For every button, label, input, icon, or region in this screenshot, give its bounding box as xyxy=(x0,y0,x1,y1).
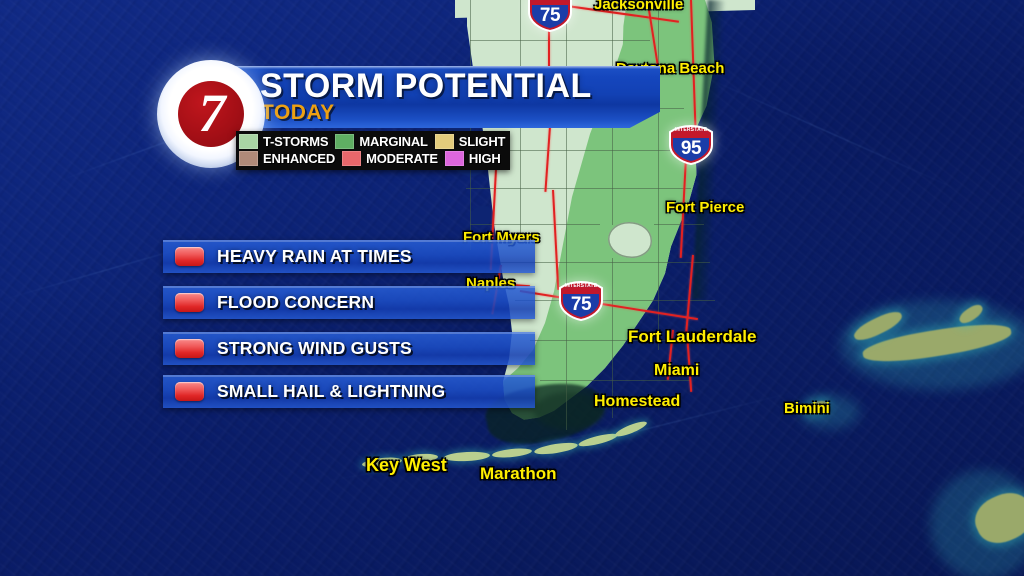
legend-item-moderate: MODERATE xyxy=(342,150,438,167)
legend-swatch-marginal xyxy=(335,134,354,149)
legend-label-moderate: MODERATE xyxy=(366,150,438,167)
legend-item-high: HIGH xyxy=(445,150,501,167)
legend-label-enhanced: ENHANCED xyxy=(263,150,335,167)
logo-disc: 7 xyxy=(178,81,244,147)
legend-item-enhanced: ENHANCED xyxy=(239,150,335,167)
title-subtitle: TODAY xyxy=(261,101,335,125)
weather-map-graphic: INTERSTATE 75 INTERSTATE 95 INTERSTATE 7… xyxy=(0,0,1024,576)
legend-item-marginal: MARGINAL xyxy=(335,133,427,150)
city-label-key-west: Key West xyxy=(366,455,447,476)
legend-label-high: HIGH xyxy=(469,150,501,167)
legend-label-tstorms: T-STORMS xyxy=(263,133,328,150)
legend-swatch-tstorms xyxy=(239,134,258,149)
impact-swatch xyxy=(175,247,204,266)
impact-row-strong-wind: STRONG WIND GUSTS xyxy=(163,332,535,365)
legend-item-slight: SLIGHT xyxy=(435,133,505,150)
impact-label-heavy-rain: HEAVY RAIN AT TIMES xyxy=(217,246,412,267)
impact-swatch xyxy=(175,339,204,358)
city-label-bimini: Bimini xyxy=(784,400,830,417)
impact-swatch xyxy=(175,382,204,401)
legend-swatch-high xyxy=(445,151,464,166)
legend-row: T-STORMS MARGINAL SLIGHT xyxy=(239,133,505,150)
impact-label-flood-concern: FLOOD CONCERN xyxy=(217,292,374,313)
city-label-fort-lauderdale: Fort Lauderdale xyxy=(628,327,756,347)
logo-channel-number: 7 xyxy=(178,86,244,140)
legend-row: ENHANCED MODERATE HIGH xyxy=(239,150,505,167)
impact-label-strong-wind: STRONG WIND GUSTS xyxy=(217,338,412,359)
city-label-homestead: Homestead xyxy=(594,393,680,411)
city-label-jacksonville: Jacksonville xyxy=(594,0,683,13)
legend-item-tstorms: T-STORMS xyxy=(239,133,328,150)
city-label-miami: Miami xyxy=(654,362,699,380)
legend-label-marginal: MARGINAL xyxy=(359,133,427,150)
legend-label-slight: SLIGHT xyxy=(459,133,505,150)
risk-legend: T-STORMS MARGINAL SLIGHT ENHANCED MODERA… xyxy=(236,131,510,170)
city-label-fort-pierce: Fort Pierce xyxy=(666,199,744,216)
legend-swatch-moderate xyxy=(342,151,361,166)
legend-swatch-slight xyxy=(435,134,454,149)
legend-swatch-enhanced xyxy=(239,151,258,166)
city-label-marathon: Marathon xyxy=(480,464,557,484)
impact-label-small-hail: SMALL HAIL & LIGHTNING xyxy=(217,381,445,402)
impact-swatch xyxy=(175,293,204,312)
title-banner: STORM POTENTIAL TODAY xyxy=(227,66,660,128)
impact-row-heavy-rain: HEAVY RAIN AT TIMES xyxy=(163,240,535,273)
impact-row-flood-concern: FLOOD CONCERN xyxy=(163,286,535,319)
impact-row-small-hail: SMALL HAIL & LIGHTNING xyxy=(163,375,535,408)
